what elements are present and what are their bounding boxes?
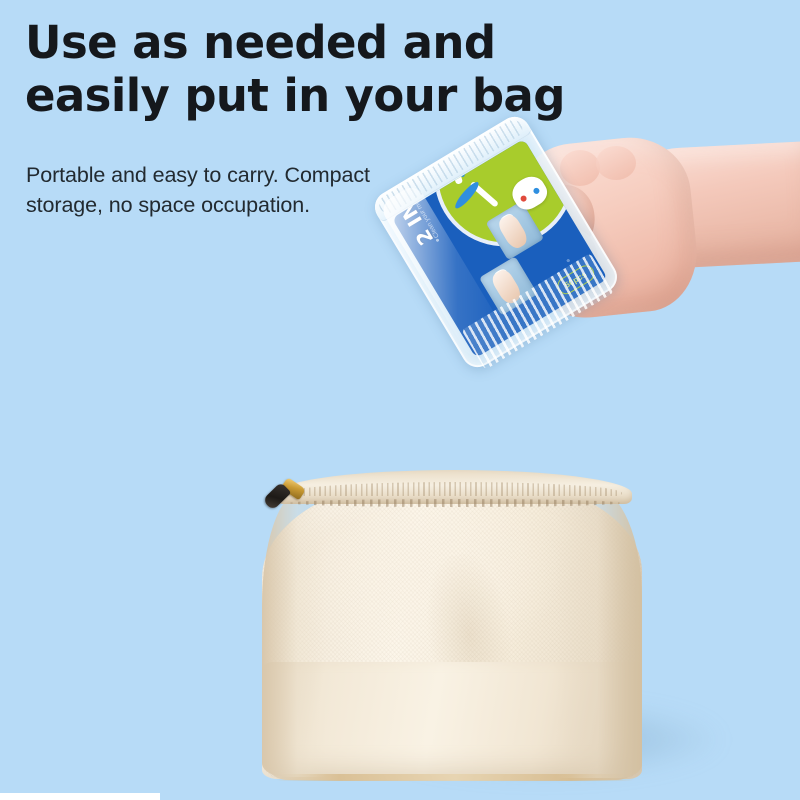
page-title: Use as needed and easily put in your bag: [25, 16, 645, 122]
cosmetic-bag: [258, 452, 646, 782]
bottom-left-white-strip: [0, 793, 160, 800]
bag-left-shading: [262, 492, 326, 777]
product-marketing-image: Use as needed and easily put in your bag…: [0, 0, 800, 800]
bag-right-shading: [556, 488, 642, 778]
knuckle: [596, 146, 636, 180]
bag-stitching: [290, 499, 620, 507]
knuckle: [560, 150, 600, 186]
